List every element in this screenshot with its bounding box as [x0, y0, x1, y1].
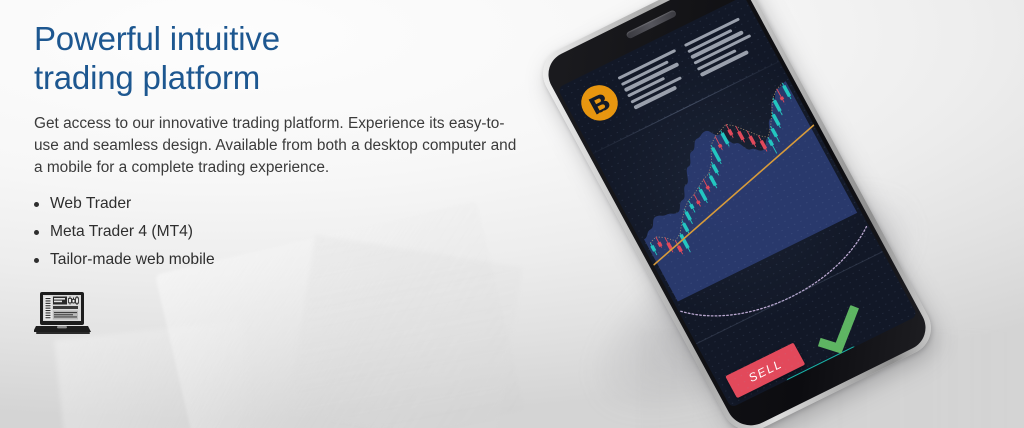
candle-body: [748, 135, 756, 145]
list-item: Web Trader: [34, 196, 534, 212]
bullet-icon: [34, 258, 39, 263]
list-item: Tailor-made web mobile: [34, 252, 534, 268]
copy-block: Powerful intuitive trading platform Get …: [34, 20, 534, 279]
feature-list: Web Trader Meta Trader 4 (MT4) Tailor-ma…: [34, 196, 534, 267]
page-title: Powerful intuitive trading platform: [34, 20, 534, 98]
placeholder-column-right: [683, 15, 760, 77]
background-watermark-c: [54, 320, 256, 428]
bullet-icon: [34, 202, 39, 207]
device-mockup: SELL BUY: [516, 0, 1016, 428]
bullet-icon: [34, 230, 39, 235]
promo-banner: Powerful intuitive trading platform Get …: [0, 0, 1024, 428]
placeholder-column-left: [617, 48, 694, 110]
feature-label: Web Trader: [50, 195, 131, 212]
list-item: Meta Trader 4 (MT4): [34, 224, 534, 240]
laptop-trading-terminal-icon: [34, 291, 92, 335]
intro-paragraph: Get access to our innovative trading pla…: [34, 113, 519, 180]
feature-label: Tailor-made web mobile: [50, 251, 215, 268]
feature-label: Meta Trader 4 (MT4): [50, 223, 193, 240]
placeholder-line: [617, 49, 676, 80]
candle-body: [737, 131, 745, 141]
candle-body: [727, 129, 733, 136]
